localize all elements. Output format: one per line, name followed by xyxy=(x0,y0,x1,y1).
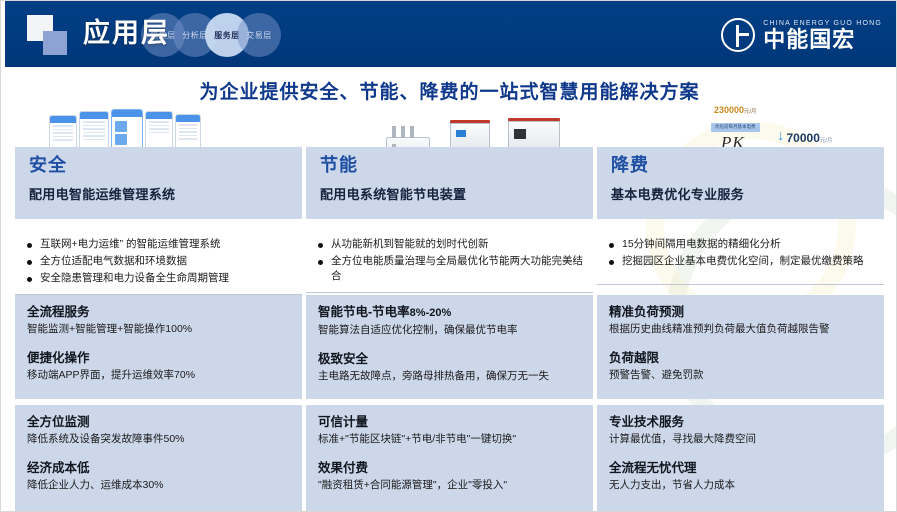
column-energy-saving: 节能 配用电系统智能节电装置 从功能新机到智能就的划时代创新 全方位电能质量治理… xyxy=(306,105,593,512)
list-item: 安全隐患管理和电力设备全生命周期管理 xyxy=(27,271,294,286)
column-heading: 降费 xyxy=(611,153,872,177)
feature-desc: 降低企业人力、运维成本30% xyxy=(27,478,292,493)
list-item: 15分钟间隔用电数据的精细化分析 xyxy=(609,237,876,252)
bullet-dot-icon xyxy=(27,260,32,265)
feature-block: 负荷越限 预警告警、避免罚款 xyxy=(609,349,874,383)
list-item: 全方位适配电气数据和环境数据 xyxy=(27,254,294,269)
feature-desc: 智能监测+智能管理+智能操作100% xyxy=(27,322,292,337)
layer-circle-trade[interactable]: 交易层 xyxy=(237,13,281,57)
slide-root: 采集层 分析层 服务层 交易层 应用层 CHINA ENERGY GUO HON… xyxy=(0,0,897,512)
feature-title-main: 智能节电-节电率 xyxy=(318,305,410,319)
energy-panel-upper: 智能节电-节电率8%-20% 智能算法自适应优化控制，确保最优节电率 极致安全 … xyxy=(306,295,593,399)
feature-block: 全流程服务 智能监测+智能管理+智能操作100% xyxy=(27,303,292,337)
feature-title: 极致安全 xyxy=(318,350,583,368)
feature-block: 专业技术服务 计算最优值，寻找最大降费空间 xyxy=(609,413,874,447)
layer-label: 分析层 xyxy=(182,30,208,41)
feature-title: 经济成本低 xyxy=(27,459,292,477)
feature-block: 全方位监测 降低系统及设备突发故障事件50% xyxy=(27,413,292,447)
feature-title: 全方位监测 xyxy=(27,413,292,431)
feature-desc: 主电路无故障点，旁路母排热备用，确保万无一失 xyxy=(318,369,583,384)
feature-block: 极致安全 主电路无故障点，旁路母排热备用，确保万无一失 xyxy=(318,350,583,384)
list-item: 全方位电能质量治理与全局最优化节能两大功能完美结合 xyxy=(318,254,585,284)
pk-before: 230000元/月 优化前每月基本电费 xyxy=(711,105,760,133)
safety-header: 安全 配用电智能运维管理系统 xyxy=(15,147,302,219)
pk-before-value: 230000元/月 xyxy=(711,105,760,115)
bullet-dot-icon xyxy=(27,277,32,282)
feature-desc: 标准+"节能区块链"+节电/非节电"一键切换" xyxy=(318,432,583,447)
feature-title: 可信计量 xyxy=(318,413,583,431)
company-name-cn: 中能国宏 xyxy=(763,28,882,52)
cost-bullet-list: 15分钟间隔用电数据的精细化分析 挖掘园区企业基本电费优化空间，制定最优缴费策略 xyxy=(597,229,884,285)
column-subheading: 配用电智能运维管理系统 xyxy=(29,185,290,205)
feature-title: 智能节电-节电率8%-20% xyxy=(318,303,583,322)
pk-saving: ↓ 70000元/月 xyxy=(777,131,832,145)
feature-title: 专业技术服务 xyxy=(609,413,874,431)
bullet-text: 全方位电能质量治理与全局最优化节能两大功能完美结合 xyxy=(331,254,585,284)
feature-block: 经济成本低 降低企业人力、运维成本30% xyxy=(27,459,292,493)
bullet-dot-icon xyxy=(27,243,32,248)
feature-desc: 移动端APP界面，提升运维效率70% xyxy=(27,368,292,383)
feature-block: 智能节电-节电率8%-20% 智能算法自适应优化控制，确保最优节电率 xyxy=(318,303,583,338)
header-title: 应用层 xyxy=(83,13,170,53)
feature-title: 精准负荷预测 xyxy=(609,303,874,321)
feature-desc: 无人力支出，节省人力成本 xyxy=(609,478,874,493)
bullet-dot-icon xyxy=(318,260,323,265)
energy-panel-lower: 可信计量 标准+"节能区块链"+节电/非节电"一键切换" 效果付费 "融资租赁+… xyxy=(306,405,593,512)
feature-title: 效果付费 xyxy=(318,459,583,477)
feature-block: 便捷化操作 移动端APP界面，提升运维效率70% xyxy=(27,349,292,383)
feature-title-suffix: 8%-20% xyxy=(410,307,452,319)
column-subheading: 配用电系统智能节电装置 xyxy=(320,185,581,205)
list-item: 挖掘园区企业基本电费优化空间，制定最优缴费策略 xyxy=(609,254,876,269)
safety-bullet-list: 互联网+电力运维” 的智能运维管理系统 全方位适配电气数据和环境数据 安全隐患管… xyxy=(15,229,302,295)
feature-desc: 根据历史曲线精准预判负荷最大值负荷越限告警 xyxy=(609,322,874,337)
layer-label: 交易层 xyxy=(246,30,272,41)
feature-block: 可信计量 标准+"节能区块链"+节电/非节电"一键切换" xyxy=(318,413,583,447)
cost-header: 降费 基本电费优化专业服务 xyxy=(597,147,884,219)
list-item: 从功能新机到智能就的划时代创新 xyxy=(318,237,585,252)
feature-block: 全流程无忧代理 无人力支出，节省人力成本 xyxy=(609,459,874,493)
feature-block: 精准负荷预测 根据历史曲线精准预判负荷最大值负荷越限告警 xyxy=(609,303,874,337)
layer-label: 服务层 xyxy=(214,30,240,41)
bullet-dot-icon xyxy=(609,243,614,248)
feature-title: 全流程服务 xyxy=(27,303,292,321)
feature-block: 效果付费 "融资租赁+合同能源管理"，企业"零投入" xyxy=(318,459,583,493)
column-safety: 安全 配用电智能运维管理系统 互联网+电力运维” 的智能运维管理系统 全方位适配… xyxy=(15,105,302,512)
cost-panel-lower: 专业技术服务 计算最优值，寻找最大降费空间 全流程无忧代理 无人力支出，节省人力… xyxy=(597,405,884,512)
columns-container: 安全 配用电智能运维管理系统 互联网+电力运维” 的智能运维管理系统 全方位适配… xyxy=(1,105,897,512)
slide-header: 采集层 分析层 服务层 交易层 应用层 CHINA ENERGY GUO HON… xyxy=(1,1,897,67)
feature-title: 负荷越限 xyxy=(609,349,874,367)
company-logo: CHINA ENERGY GUO HONG 中能国宏 xyxy=(721,15,882,55)
down-arrow-icon: ↓ xyxy=(777,131,785,141)
bullet-dot-icon xyxy=(609,260,614,265)
column-heading: 安全 xyxy=(29,153,290,177)
safety-panel-lower: 全方位监测 降低系统及设备突发故障事件50% 经济成本低 降低企业人力、运维成本… xyxy=(15,405,302,512)
bullet-text: 挖掘园区企业基本电费优化空间，制定最优缴费策略 xyxy=(622,254,864,269)
bullet-text: 全方位适配电气数据和环境数据 xyxy=(40,254,187,269)
feature-title: 全流程无忧代理 xyxy=(609,459,874,477)
bullet-text: 互联网+电力运维” 的智能运维管理系统 xyxy=(40,237,221,252)
pk-before-tag: 优化前每月基本电费 xyxy=(711,123,760,132)
column-cost-reduction: 230000元/月 优化前每月基本电费 PK 160000元/月 优化后每月基本… xyxy=(597,105,884,512)
feature-desc: 计算最优值，寻找最大降费空间 xyxy=(609,432,874,447)
pk-saving-value: 70000元/月 xyxy=(787,131,833,145)
bullet-text: 从功能新机到智能就的划时代创新 xyxy=(331,237,489,252)
list-item: 互联网+电力运维” 的智能运维管理系统 xyxy=(27,237,294,252)
page-title: 为企业提供安全、节能、降费的一站式智慧用能解决方案 xyxy=(1,77,897,104)
column-heading: 节能 xyxy=(320,153,581,177)
feature-title: 便捷化操作 xyxy=(27,349,292,367)
company-mark-icon xyxy=(721,18,755,52)
cost-panel-upper: 精准负荷预测 根据历史曲线精准预判负荷最大值负荷越限告警 负荷越限 预警告警、避… xyxy=(597,295,884,399)
feature-desc: 智能算法自适应优化控制，确保最优节电率 xyxy=(318,323,583,338)
feature-desc: "融资租赁+合同能源管理"，企业"零投入" xyxy=(318,478,583,493)
column-subheading: 基本电费优化专业服务 xyxy=(611,185,872,205)
bullet-text: 安全隐患管理和电力设备全生命周期管理 xyxy=(40,271,229,286)
feature-desc: 降低系统及设备突发故障事件50% xyxy=(27,432,292,447)
safety-panel-upper: 全流程服务 智能监测+智能管理+智能操作100% 便捷化操作 移动端APP界面，… xyxy=(15,295,302,399)
energy-header: 节能 配用电系统智能节电装置 xyxy=(306,147,593,219)
bullet-dot-icon xyxy=(318,243,323,248)
feature-desc: 预警告警、避免罚款 xyxy=(609,368,874,383)
energy-bullet-list: 从功能新机到智能就的划时代创新 全方位电能质量治理与全局最优化节能两大功能完美结… xyxy=(306,229,593,293)
bullet-text: 15分钟间隔用电数据的精细化分析 xyxy=(622,237,781,252)
squares-logo-icon xyxy=(27,15,75,57)
header-left-rule xyxy=(1,1,5,67)
